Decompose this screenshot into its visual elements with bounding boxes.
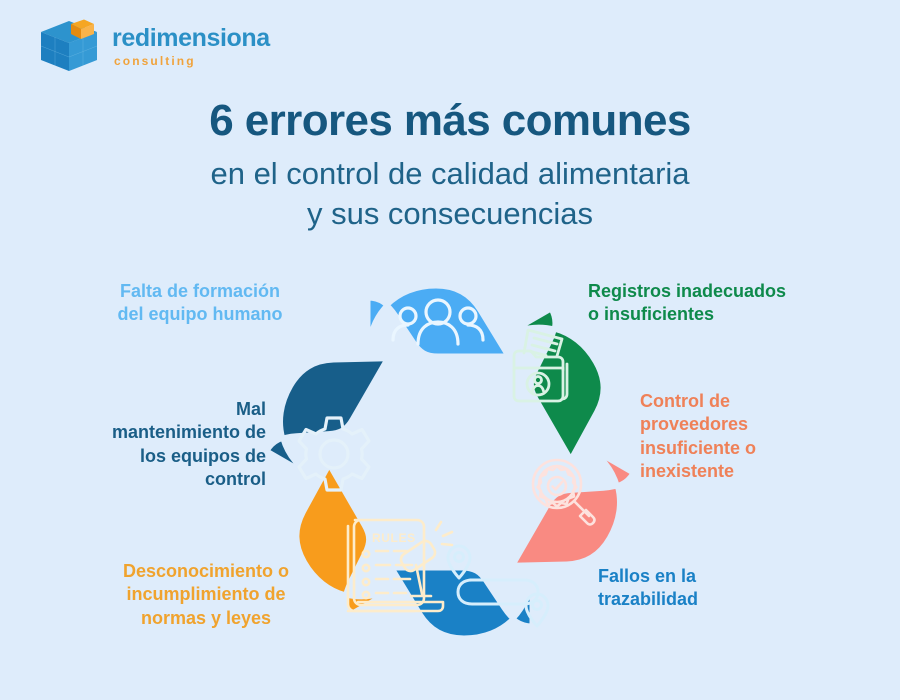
brand-name: redimensiona <box>112 26 270 51</box>
label-suppliers-line4: inexistente <box>640 460 840 483</box>
label-training-line1: Falta de formación <box>84 280 316 303</box>
label-regulations-line2: incumplimiento de <box>92 583 320 606</box>
label-traceability-line2: trazabilidad <box>598 588 828 611</box>
page-subtitle-line1: en el control de calidad alimentaria <box>0 154 900 194</box>
label-traceability-line1: Fallos en la <box>598 565 828 588</box>
label-regulations-line1: Desconocimiento o <box>92 560 320 583</box>
label-maintenance: Mal mantenimiento de los equipos de cont… <box>60 398 266 492</box>
label-records-line2: o insuficientes <box>588 303 856 326</box>
label-maintenance-line3: los equipos de <box>60 445 266 468</box>
rules-icon-text: RULES <box>372 531 416 545</box>
label-regulations-line3: normas y leyes <box>92 607 320 630</box>
label-suppliers-line3: insuficiente o <box>640 437 840 460</box>
label-maintenance-line1: Mal <box>60 398 266 421</box>
label-traceability: Fallos en la trazabilidad <box>598 565 828 612</box>
page-title: 6 errores más comunes <box>0 98 900 144</box>
segment-training[interactable] <box>368 274 508 356</box>
label-suppliers-line1: Control de <box>640 390 840 413</box>
label-training-line2: del equipo humano <box>84 303 316 326</box>
brand-tagline: consulting <box>114 55 270 67</box>
label-records-line1: Registros inadecuados <box>588 280 856 303</box>
page-subtitle: en el control de calidad alimentaria y s… <box>0 154 900 233</box>
label-suppliers: Control de proveedores insuficiente o in… <box>640 390 840 484</box>
brand-logo[interactable]: redimensiona consulting <box>38 18 270 74</box>
infographic-canvas: redimensiona consulting 6 errores más co… <box>0 0 900 700</box>
label-records: Registros inadecuados o insuficientes <box>588 280 856 327</box>
page-subtitle-line2: y sus consecuencias <box>0 194 900 234</box>
label-regulations: Desconocimiento o incumplimiento de norm… <box>92 560 320 630</box>
label-suppliers-line2: proveedores <box>640 413 840 436</box>
cube-box-icon <box>38 18 100 74</box>
label-maintenance-line4: control <box>60 468 266 491</box>
label-maintenance-line2: mantenimiento de <box>60 421 266 444</box>
label-training: Falta de formación del equipo humano <box>84 280 316 327</box>
page-title-block: 6 errores más comunes en el control de c… <box>0 98 900 234</box>
